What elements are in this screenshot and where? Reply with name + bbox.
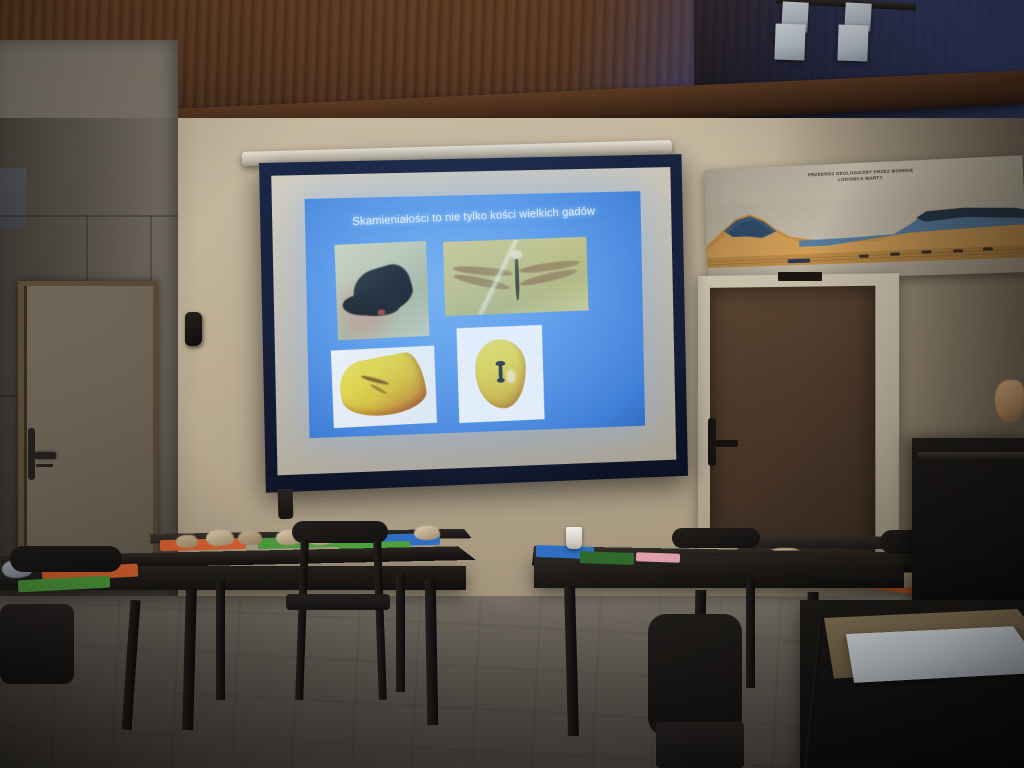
table-back-left-leg-2 bbox=[396, 574, 405, 692]
right-door-frame bbox=[698, 273, 899, 567]
slide-title: Skamieniałości to nie tylko kości wielki… bbox=[305, 204, 641, 231]
left-door[interactable] bbox=[24, 286, 153, 578]
chair-right-1-back[interactable] bbox=[648, 614, 742, 736]
right-cabinet-shelf-lip bbox=[918, 452, 1024, 462]
mat-green-right-front bbox=[580, 551, 634, 565]
specimen-rock-6 bbox=[414, 526, 440, 540]
white-paper-sheet-top[interactable] bbox=[846, 626, 1024, 683]
right-door-top-plate bbox=[778, 272, 822, 281]
ceiling-fixture-4 bbox=[837, 24, 868, 61]
left-door-handle[interactable] bbox=[35, 452, 56, 459]
projection-screen-surface: Skamieniałości to nie tylko kości wielki… bbox=[271, 167, 676, 475]
amber-gloss-highlight bbox=[507, 369, 516, 383]
chair-left-1-seat[interactable] bbox=[0, 604, 74, 684]
dragonfly-rock-crack bbox=[457, 239, 540, 316]
right-door-handle[interactable] bbox=[716, 440, 738, 447]
amber-slab-inclusion-1 bbox=[362, 375, 391, 386]
table-back-right-leg-1 bbox=[746, 578, 755, 688]
right-door[interactable] bbox=[710, 286, 875, 559]
mat-pink-right-front bbox=[636, 552, 680, 563]
slide-image-dragonfly-fossil bbox=[443, 237, 589, 316]
projection-screen-frame: Skamieniałości to nie tylko kości wielki… bbox=[259, 154, 688, 493]
amber-insect-shape bbox=[474, 339, 527, 409]
chair-left-2-seat[interactable] bbox=[286, 594, 390, 610]
slide-image-moth-fossil bbox=[334, 241, 429, 340]
chair-left-1-back[interactable] bbox=[10, 546, 122, 572]
poster-lighting-shadow bbox=[704, 155, 1024, 282]
presentation-slide: Skamieniałości to nie tylko kości wielki… bbox=[305, 191, 646, 438]
table-back-left-leg-1 bbox=[216, 580, 225, 700]
wall-speaker-icon bbox=[185, 312, 202, 346]
specimen-rock-1 bbox=[176, 535, 198, 548]
ceiling-fixture-2 bbox=[774, 23, 805, 60]
projection-screen-pull-tab[interactable] bbox=[278, 489, 294, 519]
amber-insect-inclusion bbox=[498, 364, 502, 380]
classroom-photo: PRZEKRÓJ GEOLOGICZNY PRZEZ MORENĘ LODOWC… bbox=[0, 0, 1024, 768]
slide-image-amber-slab bbox=[331, 346, 437, 429]
moth-wing-shape bbox=[342, 291, 400, 317]
amber-slab-shape bbox=[336, 350, 430, 424]
specimen-rock-3 bbox=[238, 531, 262, 545]
cabinet-object bbox=[995, 380, 1024, 422]
paper-cup[interactable] bbox=[566, 527, 582, 549]
chair-right-1-seat[interactable] bbox=[656, 722, 744, 768]
chair-right-2-back[interactable] bbox=[672, 528, 760, 548]
specimen-rock-2 bbox=[206, 530, 234, 546]
geological-cross-section-poster: PRZEKRÓJ GEOLOGICZNY PRZEZ MORENĘ LODOWC… bbox=[704, 155, 1024, 282]
slide-image-amber-insect bbox=[456, 325, 544, 423]
amber-slab-inclusion-2 bbox=[370, 383, 388, 395]
